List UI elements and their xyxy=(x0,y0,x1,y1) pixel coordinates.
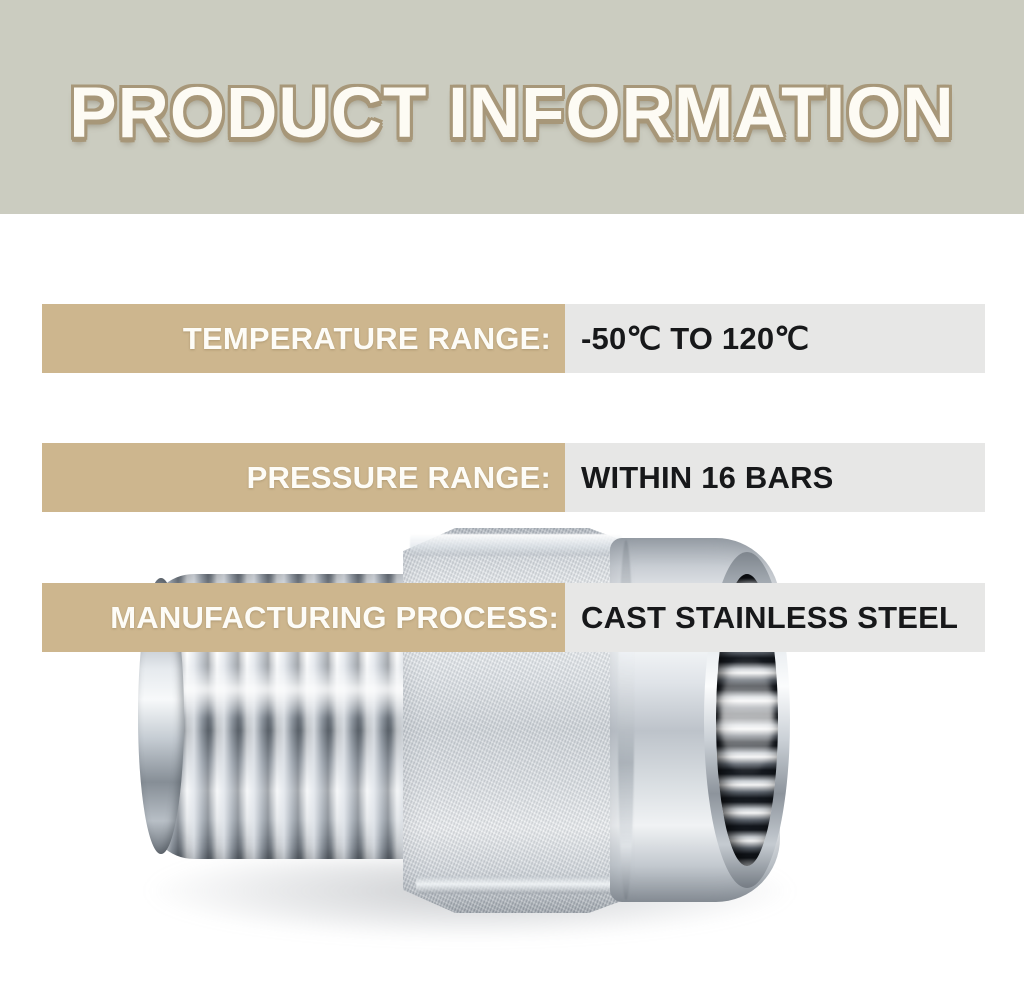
spec-label-manufacturing-process: MANUFACTURING PROCESS: xyxy=(42,583,565,652)
spec-value-manufacturing-process: CAST STAINLESS STEEL xyxy=(565,583,985,652)
spec-value-temperature-range: -50℃ TO 120℃ xyxy=(565,304,985,373)
page-title: PRODUCT INFORMATION xyxy=(0,0,1024,214)
stainless-steel-fitting-image xyxy=(148,516,768,916)
product-information-page: PRODUCT INFORMATION TEMPERATURE RANGE: -… xyxy=(0,0,1024,986)
shank-highlight xyxy=(152,666,414,718)
header-banner: PRODUCT INFORMATION xyxy=(0,0,1024,214)
hex-bottom-edge xyxy=(416,876,616,894)
spec-label-pressure-range: PRESSURE RANGE: xyxy=(42,443,565,512)
spec-value-pressure-range: WITHIN 16 BARS xyxy=(565,443,985,512)
spec-label-temperature-range: TEMPERATURE RANGE: xyxy=(42,304,565,373)
spec-row: MANUFACTURING PROCESS: CAST STAINLESS ST… xyxy=(42,583,985,652)
spec-row: PRESSURE RANGE: WITHIN 16 BARS xyxy=(42,443,985,512)
spec-row: TEMPERATURE RANGE: -50℃ TO 120℃ xyxy=(42,304,985,373)
bore-highlight xyxy=(720,656,774,776)
hex-top-edge xyxy=(410,534,622,556)
